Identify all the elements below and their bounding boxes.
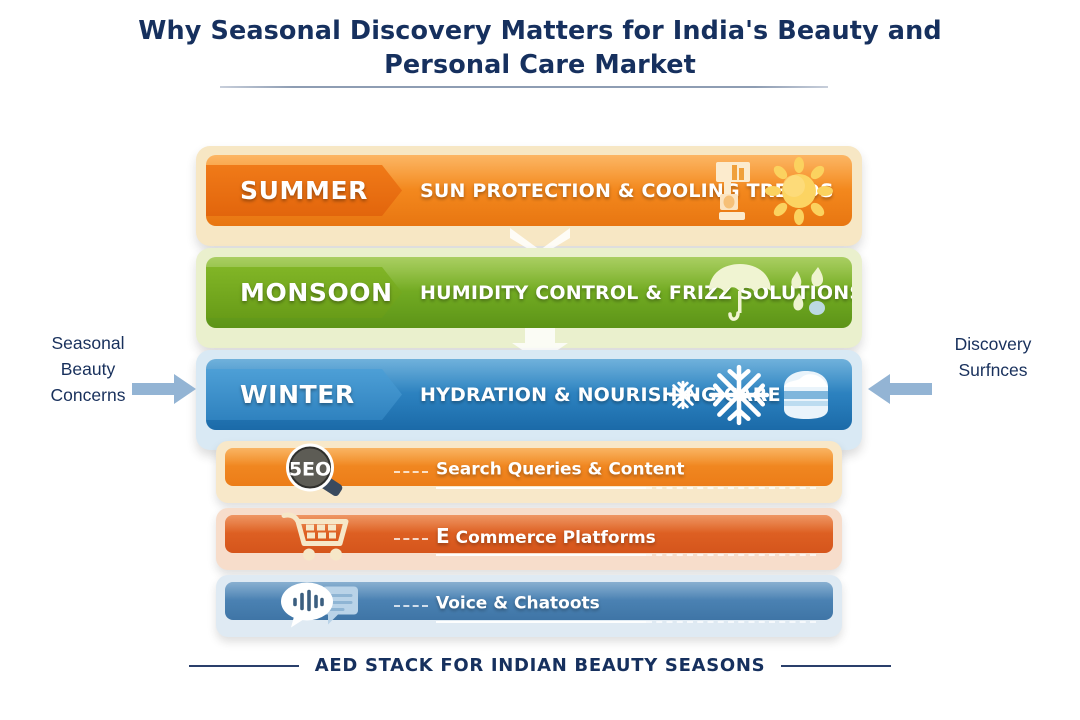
seo-label: Search Queries & Content — [436, 460, 684, 480]
annotation-right-line-2: Surfnces — [930, 357, 1056, 383]
seo-lead-dash — [394, 471, 428, 473]
footer-rule-right — [781, 665, 891, 667]
ecommerce-label-lead: E — [436, 524, 450, 548]
annotation-right-line-1: Discovery — [930, 331, 1056, 357]
voice-chat-bubble-icon — [278, 579, 364, 634]
winter-icon-group — [666, 364, 834, 426]
shopping-cart-icon — [278, 510, 356, 569]
ecommerce-label: E Commerce Platforms — [436, 524, 656, 548]
monsoon-icon-group — [704, 261, 834, 325]
footer-caption: AED STACK FOR INDIAN BEAUTY SEASONS — [315, 655, 766, 676]
seo-magnifier-icon: 5EO — [278, 443, 360, 502]
ecommerce-label-rest: Commerce Platforms — [450, 528, 656, 548]
cream-jar-icon — [778, 369, 834, 421]
large-snowflake-icon — [708, 364, 770, 426]
arrow-right-icon — [132, 374, 196, 404]
voice-lead-dash — [394, 605, 428, 607]
summer-bar-body: SUMMER SUN PROTECTION & COOLING TRENDS — [206, 155, 852, 226]
footer-rule-left — [189, 665, 299, 667]
channel-bar-voice[interactable]: Voice & Chatoots — [216, 575, 842, 637]
page-title-line-2: Personal Care Market — [0, 48, 1080, 82]
voice-label: Voice & Chatoots — [436, 594, 600, 614]
seo-underline-dash — [646, 487, 816, 489]
channel-bar-ecommerce[interactable]: E Commerce Platforms — [216, 508, 842, 570]
footer-caption-row: AED STACK FOR INDIAN BEAUTY SEASONS — [0, 655, 1080, 676]
monsoon-bar-body: MONSOON HUMIDITY CONTROL & FRIZZ SOLUTIO… — [206, 257, 852, 328]
sun-icon — [764, 156, 834, 226]
ecommerce-lead-dash — [394, 538, 428, 540]
page-title: Why Seasonal Discovery Matters for India… — [0, 14, 1080, 82]
seo-icon-text: 5EO — [289, 459, 331, 481]
annotation-left-line-1: Seasonal — [26, 330, 150, 356]
umbrella-icon — [704, 261, 776, 325]
summer-ribbon-label: SUMMER — [206, 176, 368, 205]
small-snowflake-icon — [666, 378, 700, 412]
monsoon-ribbon-label: MONSOON — [206, 278, 393, 307]
title-divider — [220, 86, 828, 88]
voice-underline-dash — [646, 621, 816, 623]
winter-ribbon-label: WINTER — [206, 380, 355, 409]
page-title-line-1: Why Seasonal Discovery Matters for India… — [0, 14, 1080, 48]
season-bar-winter[interactable]: WINTER HYDRATION & NOURISHING CARE — [196, 350, 862, 450]
annotation-right: Discovery Surfnces — [930, 331, 1056, 383]
summer-ribbon: SUMMER — [206, 165, 402, 216]
infographic-canvas: Why Seasonal Discovery Matters for India… — [0, 0, 1080, 720]
monsoon-ribbon: MONSOON — [206, 267, 402, 318]
sunscreen-bottle-icon — [712, 160, 756, 222]
summer-icon-group — [712, 156, 834, 226]
arrow-left-icon — [868, 374, 932, 404]
channel-bar-seo[interactable]: 5EO Search Queries & Content — [216, 441, 842, 503]
raindrops-icon — [784, 263, 834, 323]
ecommerce-underline-dash — [646, 554, 816, 556]
winter-ribbon: WINTER — [206, 369, 402, 420]
winter-bar-body: WINTER HYDRATION & NOURISHING CARE — [206, 359, 852, 430]
